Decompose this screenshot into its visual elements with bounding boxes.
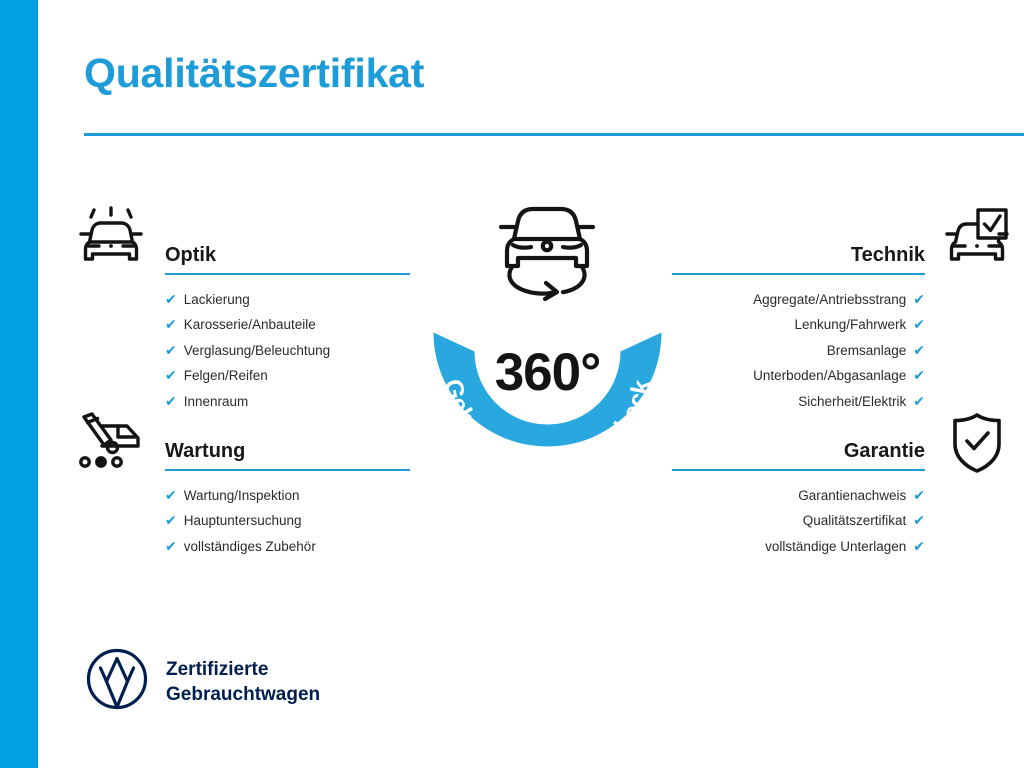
check-icon: ✔ <box>913 312 925 336</box>
section-divider <box>672 273 925 276</box>
section-header: Optik <box>165 241 410 275</box>
list-item-label: Verglasung/Beleuchtung <box>184 339 330 363</box>
list-item: Aggregate/Antriebsstrang✔ <box>672 287 925 312</box>
check-icon: ✔ <box>165 389 177 413</box>
list-item-label: Innenraum <box>184 390 249 414</box>
check-icon: ✔ <box>165 363 177 387</box>
check-icon: ✔ <box>165 338 177 362</box>
certificate-page: Qualitätszertifikat <box>0 0 1024 768</box>
list-item-label: Felgen/Reifen <box>184 364 268 388</box>
badge-degrees: 360° <box>405 342 690 403</box>
list-item: vollständige Unterlagen✔ <box>672 534 925 559</box>
list-item: ✔Wartung/Inspektion <box>165 483 410 508</box>
list-item-label: Qualitätszertifikat <box>803 509 907 533</box>
list-item-label: Bremsanlage <box>827 339 907 363</box>
list-item-label: vollständige Unterlagen <box>765 535 906 559</box>
check-icon: ✔ <box>913 363 925 387</box>
section-divider <box>165 469 410 472</box>
check-icon: ✔ <box>913 287 925 311</box>
list-item: Unterboden/Abgasanlage✔ <box>672 363 925 388</box>
vw-brand-lockup: Zertifizierte Gebrauchtwagen <box>86 648 320 715</box>
check-icon: ✔ <box>913 483 925 507</box>
list-item: ✔vollständiges Zubehör <box>165 534 410 559</box>
list-item: Garantienachweis✔ <box>672 483 925 508</box>
list-item: ✔Hauptuntersuchung <box>165 508 410 533</box>
section-list: Garantienachweis✔ Qualitätszertifikat✔ v… <box>672 483 925 559</box>
section-title: Wartung <box>165 437 410 465</box>
check-icon: ✔ <box>913 338 925 362</box>
list-item-label: Lackierung <box>184 288 250 312</box>
list-item-label: Hauptuntersuchung <box>184 509 302 533</box>
section-divider <box>672 469 925 472</box>
section-list: ✔Lackierung ✔Karosserie/Anbauteile ✔Verg… <box>165 287 410 414</box>
section-list: ✔Wartung/Inspektion ✔Hauptuntersuchung ✔… <box>165 483 410 559</box>
vw-logo <box>86 648 148 715</box>
section-divider <box>165 273 410 276</box>
vw-lockup-text: Zertifizierte Gebrauchtwagen <box>166 657 320 707</box>
check-icon: ✔ <box>165 534 177 558</box>
list-item-label: Wartung/Inspektion <box>184 484 300 508</box>
check-icon: ✔ <box>913 508 925 532</box>
vw-lockup-line1: Zertifizierte <box>166 657 320 682</box>
list-item: Sicherheit/Elektrik✔ <box>672 389 925 414</box>
list-item: ✔Lackierung <box>165 287 410 312</box>
car-checkbox-icon <box>945 206 1009 273</box>
section-technik: Technik Aggregate/Antriebsstrang✔ Lenkun… <box>672 241 925 414</box>
list-item-label: Unterboden/Abgasanlage <box>753 364 906 388</box>
shield-check-icon <box>950 412 1004 479</box>
list-item: ✔Innenraum <box>165 389 410 414</box>
title-divider <box>84 133 1024 136</box>
check-icon: ✔ <box>165 508 177 532</box>
section-title: Optik <box>165 241 410 269</box>
list-item: ✔Felgen/Reifen <box>165 363 410 388</box>
check-icon: ✔ <box>913 534 925 558</box>
check-icon: ✔ <box>913 389 925 413</box>
list-item: Lenkung/Fahrwerk✔ <box>672 312 925 337</box>
vw-lockup-line2: Gebrauchtwagen <box>166 682 320 707</box>
left-accent-bar <box>0 0 38 768</box>
car-shine-icon <box>78 206 144 273</box>
section-optik: Optik ✔Lackierung ✔Karosserie/Anbauteile… <box>165 241 410 414</box>
list-item-label: Sicherheit/Elektrik <box>798 390 906 414</box>
section-header: Technik <box>672 241 925 275</box>
check-icon: ✔ <box>165 483 177 507</box>
360-check-badge: Gebrauchtwagen-Check 360° <box>405 195 690 490</box>
page-title: Qualitätszertifikat <box>84 50 424 97</box>
list-item-label: Karosserie/Anbauteile <box>184 313 316 337</box>
list-item-label: Aggregate/Antriebsstrang <box>753 288 906 312</box>
list-item: ✔Karosserie/Anbauteile <box>165 312 410 337</box>
check-icon: ✔ <box>165 312 177 336</box>
list-item-label: Lenkung/Fahrwerk <box>794 313 906 337</box>
section-title: Technik <box>672 241 925 269</box>
section-header: Wartung <box>165 437 410 471</box>
section-list: Aggregate/Antriebsstrang✔ Lenkung/Fahrwe… <box>672 287 925 414</box>
list-item: Qualitätszertifikat✔ <box>672 508 925 533</box>
section-wartung: Wartung ✔Wartung/Inspektion ✔Hauptunters… <box>165 437 410 559</box>
pencil-car-icon <box>78 412 144 477</box>
list-item: ✔Verglasung/Beleuchtung <box>165 338 410 363</box>
section-title: Garantie <box>672 437 925 465</box>
section-header: Garantie <box>672 437 925 471</box>
check-icon: ✔ <box>165 287 177 311</box>
list-item-label: vollständiges Zubehör <box>184 535 316 559</box>
list-item-label: Garantienachweis <box>798 484 906 508</box>
list-item: Bremsanlage✔ <box>672 338 925 363</box>
section-garantie: Garantie Garantienachweis✔ Qualitätszert… <box>672 437 925 559</box>
